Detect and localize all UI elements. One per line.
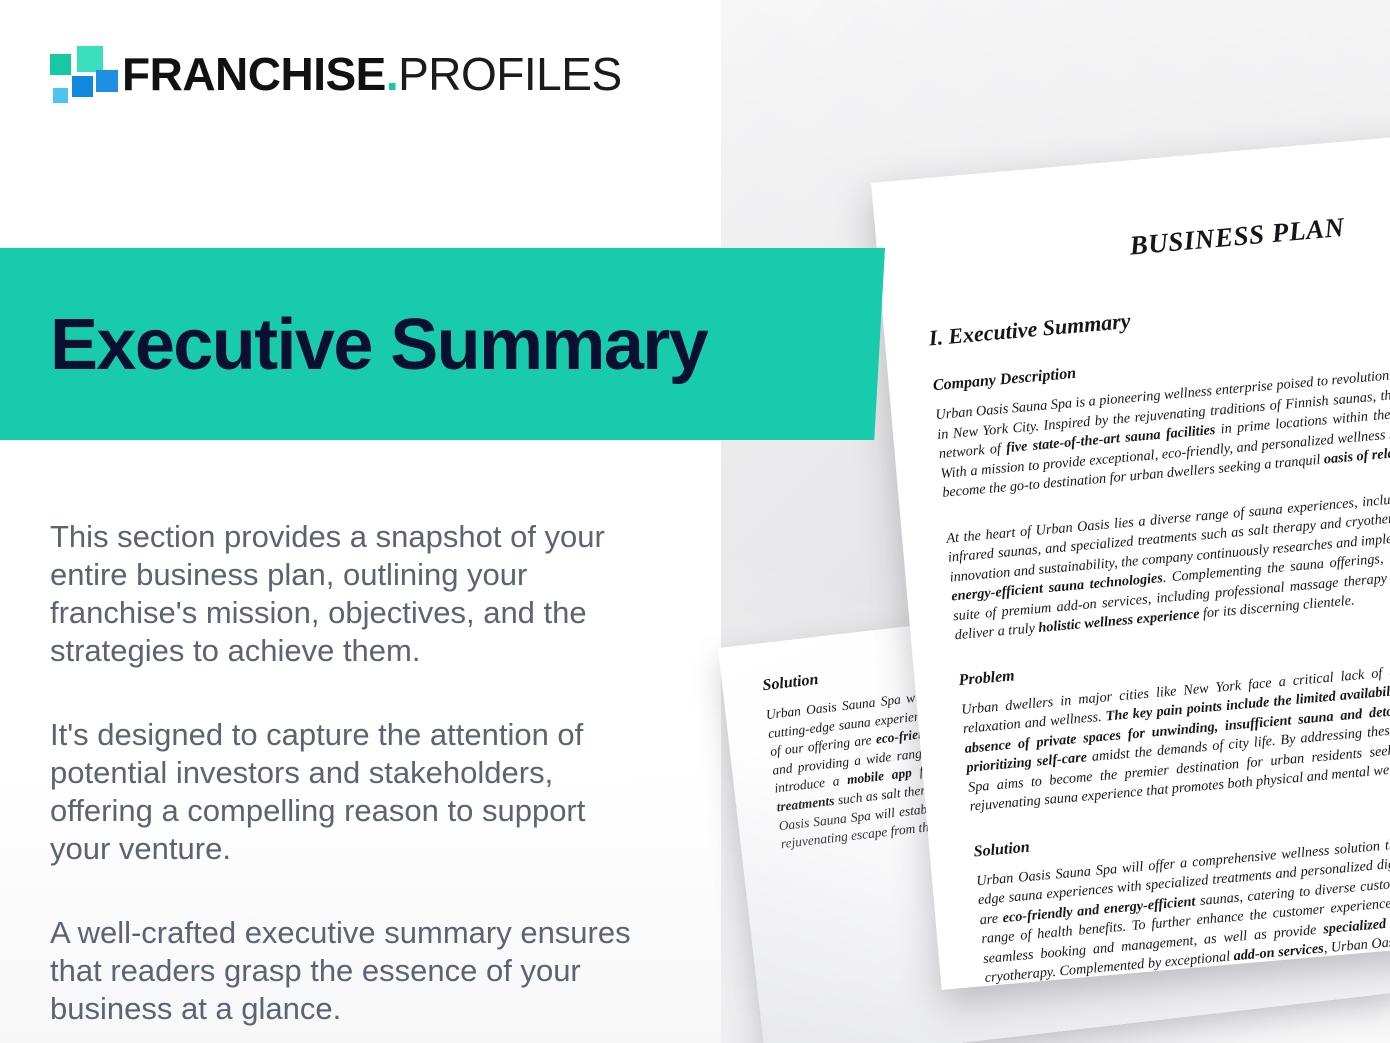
page-title: Executive Summary <box>50 300 810 390</box>
logo-mark-icon <box>44 46 106 102</box>
slide-root: FRANCHISE.PROFILES Solution Urban Oasis … <box>0 0 1390 1043</box>
document-section-heading: I. Executive Summary <box>928 270 1390 351</box>
brand-logo[interactable]: FRANCHISE.PROFILES <box>44 43 622 105</box>
logo-square-lightblue <box>53 88 68 103</box>
logo-square-blue-right <box>96 70 118 92</box>
logo-square-mint <box>77 46 103 72</box>
body-paragraph-1: This section provides a snapshot of your… <box>50 518 650 670</box>
document-sheet-front: BUSINESS PLAN I. Executive Summary Compa… <box>871 120 1390 990</box>
body-paragraph-3: A well-crafted executive summary ensures… <box>50 914 650 1028</box>
document-title: BUSINESS PLAN <box>921 194 1390 280</box>
doc-paragraph-company-2: At the heart of Urban Oasis lies a diver… <box>946 474 1390 646</box>
brand-name-bold: FRANCHISE <box>122 48 386 100</box>
brand-wordmark: FRANCHISE.PROFILES <box>122 51 622 97</box>
logo-square-teal <box>50 54 71 75</box>
body-paragraph-2: It's designed to capture the attention o… <box>50 716 650 868</box>
body-copy: This section provides a snapshot of your… <box>50 518 650 1028</box>
logo-square-blue-mid <box>72 76 93 97</box>
brand-name-thin: PROFILES <box>398 48 622 100</box>
brand-name-dot: . <box>386 48 398 100</box>
document-sheet-front-content: BUSINESS PLAN I. Executive Summary Compa… <box>871 120 1390 990</box>
